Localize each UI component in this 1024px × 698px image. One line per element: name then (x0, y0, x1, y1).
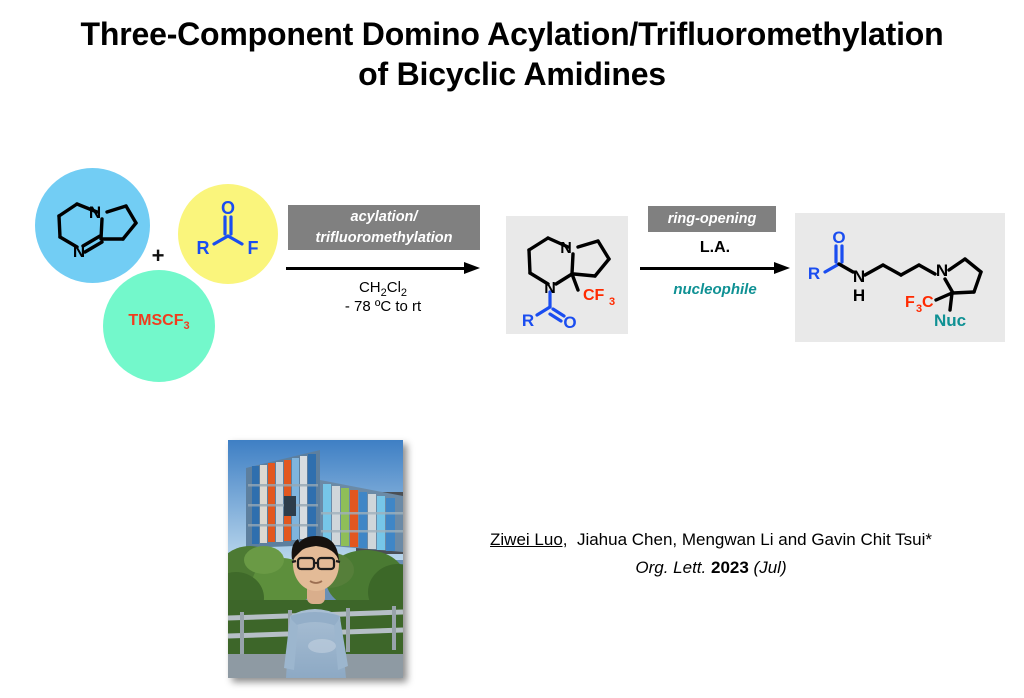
plus-sign: + (148, 244, 168, 268)
journal-month: (Jul) (754, 558, 787, 577)
product-r-label: R (808, 264, 820, 283)
acyl-f-label: F (248, 238, 259, 258)
tmscf3-label: TMSCF3 (103, 312, 215, 332)
intermediate-n2-label: N (544, 280, 556, 297)
journal-name: Org. Lett. (635, 558, 706, 577)
reaction-arrow-2 (640, 262, 790, 274)
journal-citation: Org. Lett. 2023 (Jul) (420, 556, 1002, 580)
nucleophile-label: nucleophile (634, 280, 796, 299)
solvent-ch: CH (359, 279, 381, 296)
arrow-head (774, 262, 790, 274)
amidine-n2-label: N (73, 242, 85, 261)
authors-line: Ziwei Luo, Jiahua Chen, Mengwan Li and G… (420, 528, 1002, 552)
tmscf3-text: TMSCF (128, 312, 183, 329)
intermediate-n1-label: N (560, 240, 572, 257)
product-cf3-c-label: C (922, 294, 934, 311)
intermediate-structure: N N CF 3 R O (506, 216, 628, 334)
product-amide-n-label: N (853, 267, 865, 286)
product-ring-n-label: N (936, 261, 948, 280)
acyl-r-label: R (197, 238, 210, 258)
intermediate-cf3-label: CF (583, 287, 605, 304)
product-nuc-label: Nuc (934, 311, 966, 330)
condition-line-2: trifluoromethylation (288, 228, 480, 249)
bicyclic-amidine-structure: N N (35, 168, 150, 283)
tmscf3-subscript: 3 (183, 320, 189, 332)
solvent-cl: Cl (387, 279, 401, 296)
product-cf3-f-label: F (905, 294, 915, 311)
first-author: Ziwei Luo, (490, 530, 567, 549)
arrow-shaft (640, 267, 778, 270)
product-amide-h-label: H (853, 286, 865, 305)
intermediate-cf3-subscript: 3 (609, 296, 615, 308)
arrow-shaft (286, 267, 468, 270)
acylation-condition-box: acylation/ trifluoromethylation (288, 205, 480, 250)
intermediate-o-label: O (563, 313, 576, 332)
page-title: Three-Component Domino Acylation/Trifluo… (40, 14, 984, 94)
ring-opening-condition-box: ring-opening (648, 206, 776, 232)
condition-line-1: acylation/ (288, 207, 480, 228)
title-line-2: of Bicyclic Amidines (40, 54, 984, 94)
lewis-acid-label: L.A. (640, 238, 790, 258)
acyl-fluoride-structure: O R F (178, 184, 278, 284)
arrow-head (464, 262, 480, 274)
amidine-n1-label: N (89, 203, 101, 222)
temperature-label: - 78 ºC to rt (286, 297, 480, 316)
author-photo (228, 440, 403, 678)
photo-content (228, 440, 403, 678)
slide-canvas: Three-Component Domino Acylation/Trifluo… (0, 0, 1024, 698)
product-o-label: O (832, 228, 845, 247)
title-line-1: Three-Component Domino Acylation/Trifluo… (81, 16, 944, 52)
intermediate-r-label: R (522, 311, 534, 330)
product-structure: O R N H N F 3 C Nuc (795, 213, 1005, 342)
journal-year: 2023 (711, 558, 749, 577)
other-authors: Jiahua Chen, Mengwan Li and Gavin Chit T… (577, 530, 932, 549)
acyl-o-label: O (221, 198, 235, 218)
reaction-arrow-1 (286, 262, 480, 274)
